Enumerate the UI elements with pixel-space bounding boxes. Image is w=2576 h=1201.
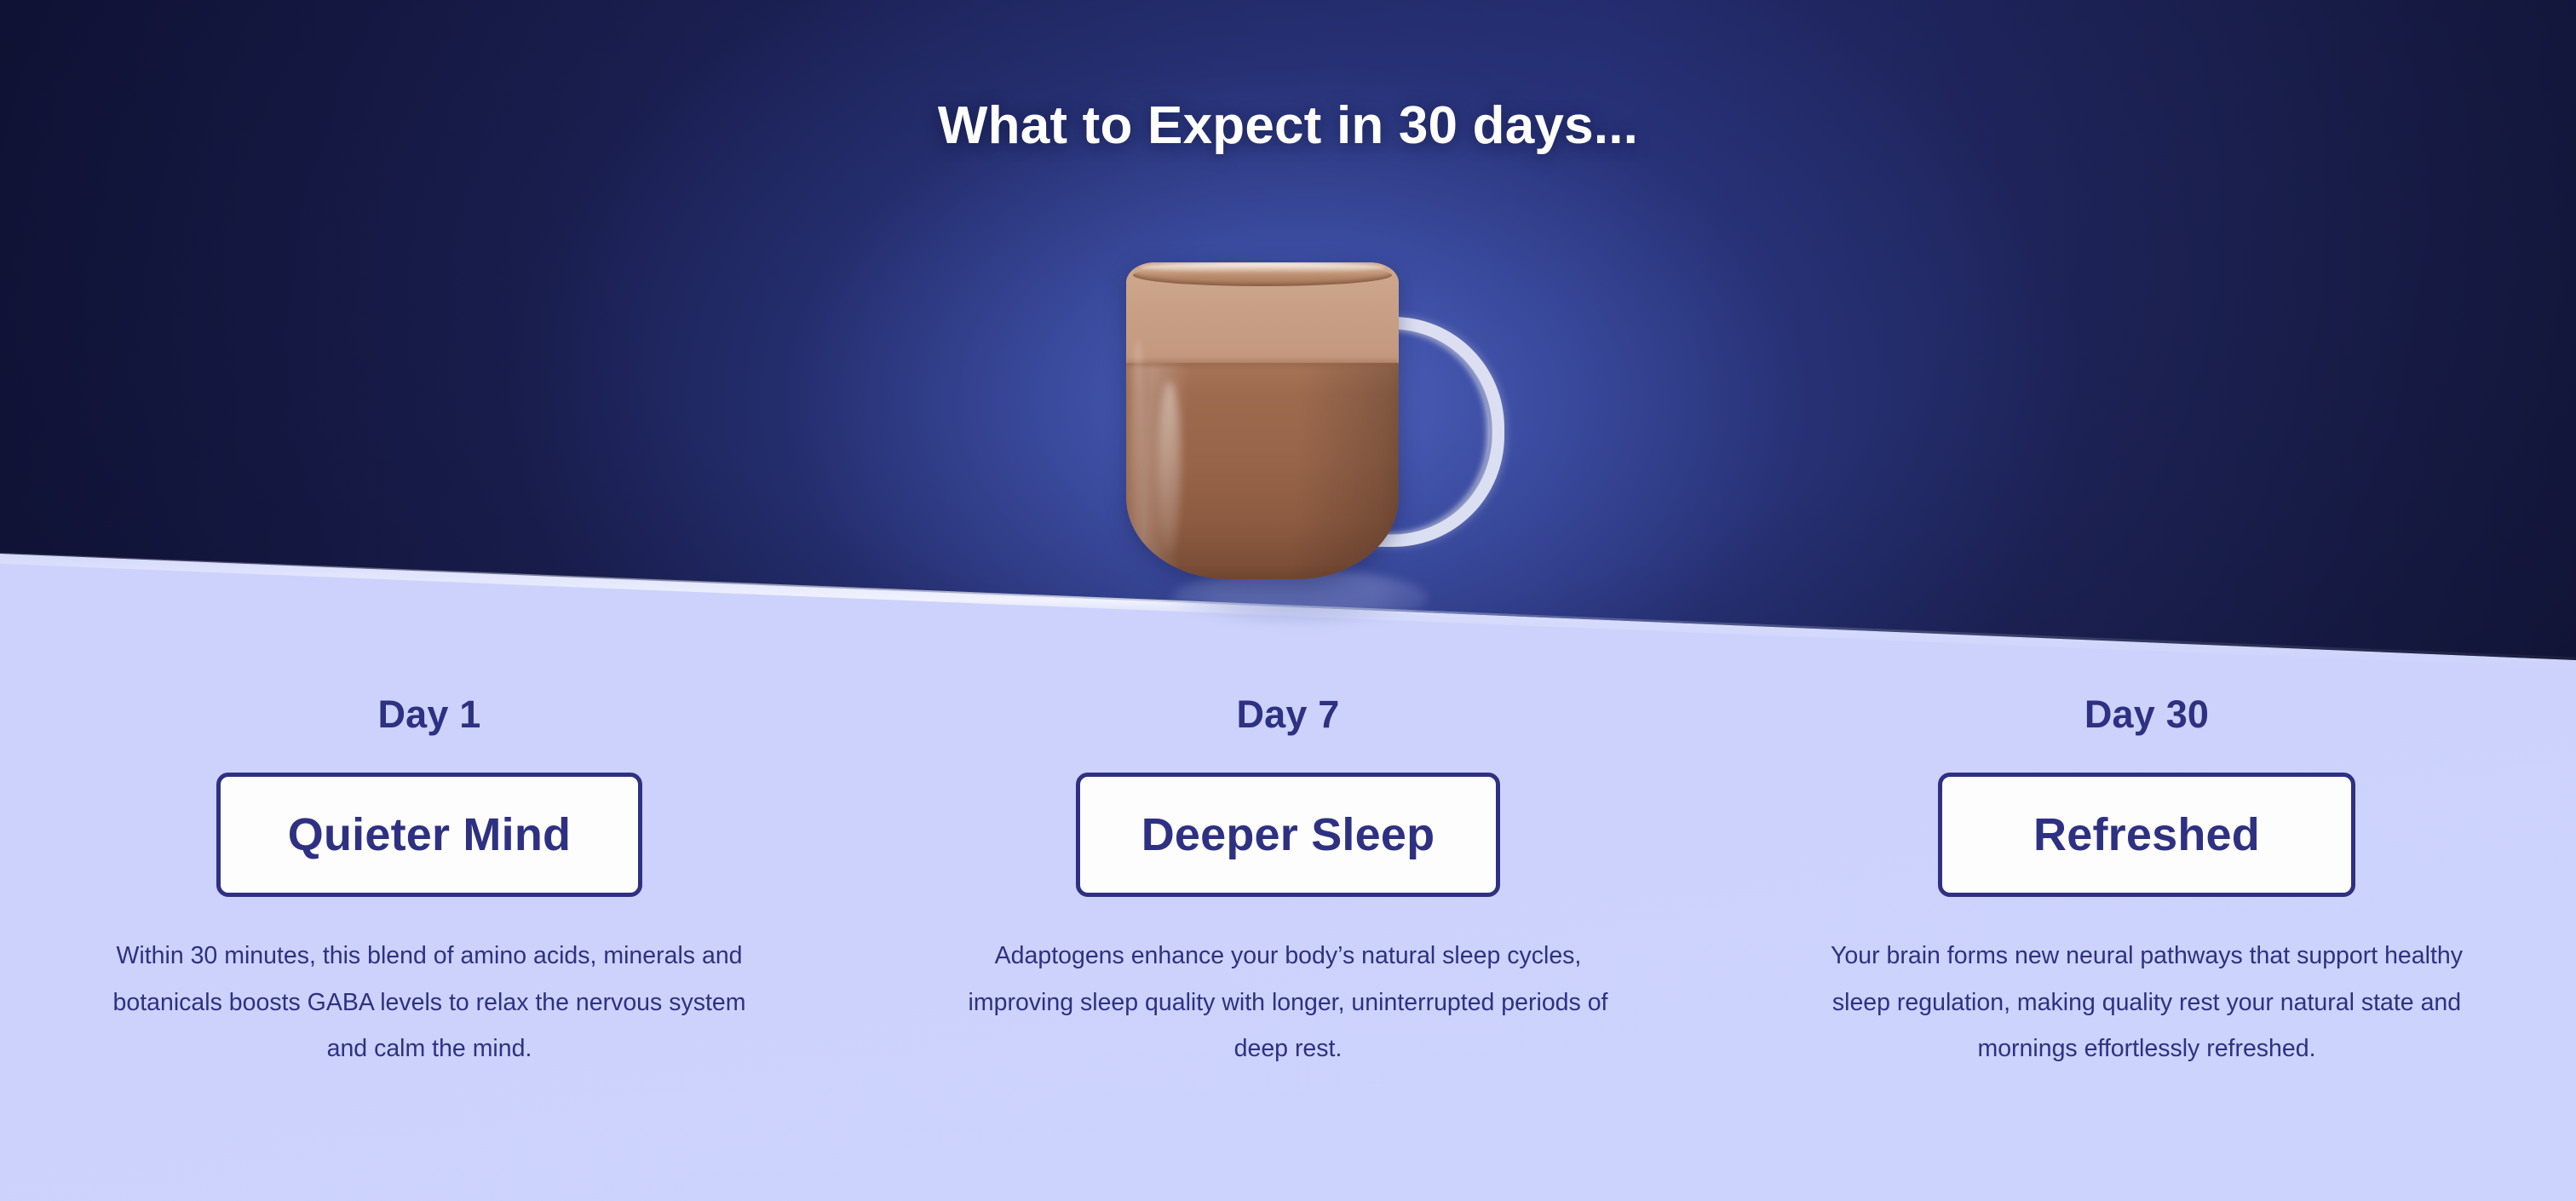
page-title: What to Expect in 30 days... — [0, 95, 2576, 156]
mug-body-highlight — [1159, 382, 1181, 552]
mug-of-cocoa-image — [1090, 244, 1533, 635]
mug-liquid-line — [1126, 358, 1399, 366]
benefit-description-1: Within 30 minutes, this blend of amino a… — [106, 933, 753, 1072]
mug-rim-highlight — [1140, 262, 1385, 273]
day-label-1: Day 1 — [377, 695, 480, 733]
timeline-column-day-7: Day 7 Deeper Sleep Adaptogens enhance yo… — [859, 695, 1717, 1072]
benefit-label-1: Quieter Mind — [288, 808, 571, 861]
day-label-3: Day 30 — [2084, 695, 2209, 733]
benefit-card-3[interactable]: Refreshed — [1938, 773, 2355, 897]
hero-section: What to Expect in 30 days... Day 1 Quiet… — [0, 0, 2576, 1201]
mug-body — [1126, 262, 1399, 579]
benefit-label-2: Deeper Sleep — [1141, 808, 1435, 861]
timeline-column-day-30: Day 30 Refreshed Your brain forms new ne… — [1717, 695, 2576, 1072]
benefit-description-3: Your brain forms new neural pathways tha… — [1810, 933, 2483, 1072]
timeline-column-day-1: Day 1 Quieter Mind Within 30 minutes, th… — [0, 695, 859, 1072]
benefit-card-2[interactable]: Deeper Sleep — [1076, 773, 1500, 897]
day-label-2: Day 7 — [1236, 695, 1339, 733]
benefit-card-1[interactable]: Quieter Mind — [216, 773, 642, 897]
benefit-description-2: Adaptogens enhance your body’s natural s… — [964, 933, 1612, 1072]
mug-body-edge-highlight — [1131, 339, 1145, 552]
benefit-label-3: Refreshed — [2033, 808, 2260, 861]
timeline-columns: Day 1 Quieter Mind Within 30 minutes, th… — [0, 695, 2576, 1072]
